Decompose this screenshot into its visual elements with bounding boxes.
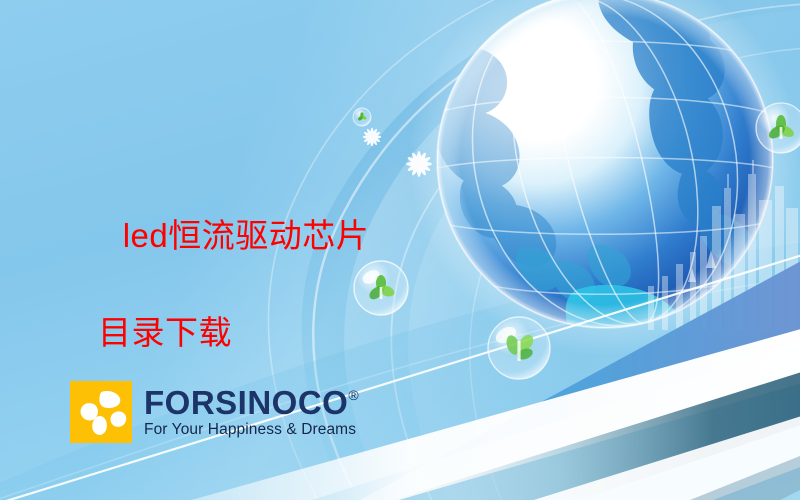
brand-tagline: For Your Happiness & Dreams	[144, 421, 359, 438]
pinwheel-petals-icon	[70, 381, 132, 443]
brand-name-text: FORSINOCO	[144, 386, 348, 419]
bubble-icon	[756, 103, 800, 153]
headline-line-2: 目录下载	[84, 309, 414, 358]
brand-name: FORSINOCO®	[144, 386, 359, 419]
banner-image: led恒流驱动芯片 目录下载 FORSINOCO® For Your Happi…	[0, 0, 800, 500]
headline-line-1: led恒流驱动芯片	[123, 217, 370, 254]
bubble-icon	[488, 317, 550, 379]
sparkle-icon	[363, 128, 382, 147]
bubble-icon	[353, 108, 371, 126]
logo-mark-icon	[70, 381, 132, 443]
logo-text-block: FORSINOCO® For Your Happiness & Dreams	[144, 386, 359, 438]
company-logo: FORSINOCO® For Your Happiness & Dreams	[70, 381, 359, 443]
registered-mark: ®	[348, 388, 359, 402]
